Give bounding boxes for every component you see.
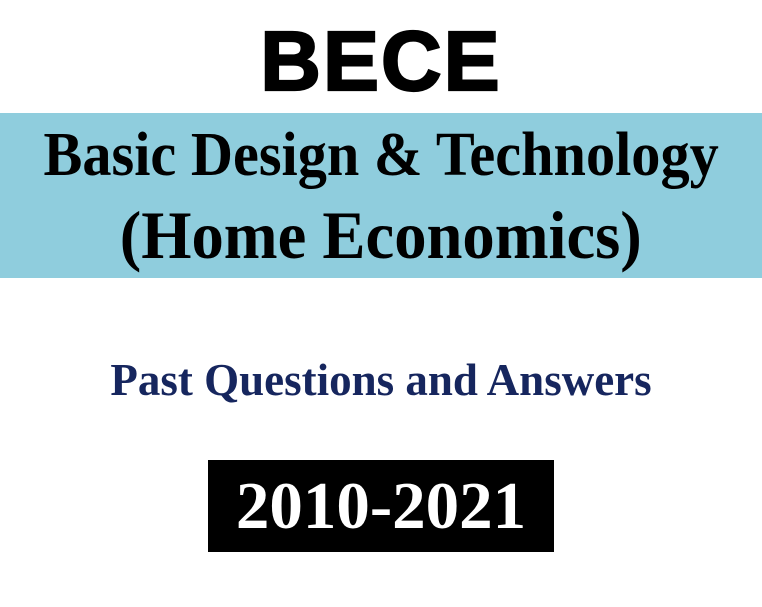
exam-title: BECE: [0, 14, 762, 108]
year-range-plate: 2010-2021: [208, 460, 554, 552]
subject-banner: Basic Design & Technology (Home Economic…: [0, 113, 762, 278]
sub-heading: Past Questions and Answers: [0, 352, 762, 408]
subject-title-line-2: (Home Economics): [120, 193, 642, 277]
subject-title-line-1: Basic Design & Technology: [43, 117, 718, 193]
book-cover: BECE Basic Design & Technology (Home Eco…: [0, 0, 762, 607]
year-range-label: 2010-2021: [236, 470, 526, 542]
